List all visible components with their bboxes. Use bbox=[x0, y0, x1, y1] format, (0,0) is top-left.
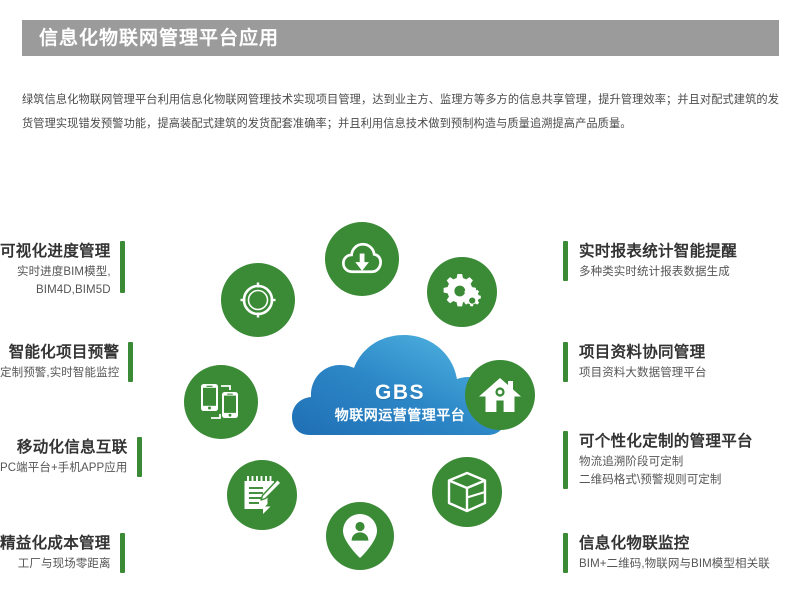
feature-desc-line: 实时进度BIM模型, bbox=[17, 263, 111, 281]
page-title: 信息化物联网管理平台应用 bbox=[22, 29, 279, 48]
feature-desc-line: BIM4D,BIM5D bbox=[36, 281, 111, 299]
feature-label-lean-cost[interactable]: 精益化成本管理 工厂与现场零距离 bbox=[0, 533, 163, 573]
feature-title: 可视化进度管理 bbox=[0, 241, 111, 263]
feature-title: 智能化项目预警 bbox=[9, 342, 120, 364]
compass-icon bbox=[238, 280, 278, 320]
feature-text: 移动化信息互联 PC端平台+手机APP应用 bbox=[0, 437, 137, 477]
feature-title: 可个性化定制的管理平台 bbox=[579, 431, 753, 453]
accent-bar bbox=[563, 342, 568, 382]
accent-bar bbox=[563, 241, 568, 281]
feature-desc-line: PC端平台+手机APP应用 bbox=[0, 459, 128, 477]
feature-desc-line: 多种类实时统计报表数据生成 bbox=[579, 263, 730, 281]
feature-label-project-docs[interactable]: 项目资料协同管理 项目资料大数据管理平台 bbox=[563, 342, 707, 382]
node-compass[interactable] bbox=[221, 263, 295, 337]
feature-text: 精益化成本管理 工厂与现场零距离 bbox=[0, 533, 120, 573]
cloud-download-icon bbox=[342, 241, 382, 277]
mobile-devices-icon bbox=[199, 381, 243, 423]
node-cloud-download[interactable] bbox=[325, 222, 399, 296]
feature-desc-line: 二维码格式\预警规则可定制 bbox=[579, 471, 722, 489]
feature-text: 信息化物联监控 BIM+二维码,物联网与BIM模型相关联 bbox=[579, 533, 770, 573]
feature-title: 移动化信息互联 bbox=[17, 437, 128, 459]
feature-desc-line: BIM+二维码,物联网与BIM模型相关联 bbox=[579, 555, 770, 573]
feature-desc-line: 定制预警,实时智能监控 bbox=[0, 364, 119, 382]
accent-bar bbox=[120, 241, 125, 293]
feature-text: 实时报表统计智能提醒 多种类实时统计报表数据生成 bbox=[579, 241, 737, 281]
accent-bar bbox=[137, 437, 142, 477]
feature-title: 信息化物联监控 bbox=[579, 533, 690, 555]
feature-desc-line: 物流追溯阶段可定制 bbox=[579, 453, 683, 471]
intro-paragraph: 绿筑信息化物联网管理平台利用信息化物联网管理技术实现项目管理，达到业主方、监理方… bbox=[22, 88, 779, 136]
node-map-pin[interactable] bbox=[326, 502, 394, 570]
feature-text: 可视化进度管理 实时进度BIM模型, BIM4D,BIM5D bbox=[0, 241, 120, 299]
feature-label-visual-progress[interactable]: 可视化进度管理 实时进度BIM模型, BIM4D,BIM5D bbox=[0, 241, 163, 299]
feature-label-mobile-interconnect[interactable]: 移动化信息互联 PC端平台+手机APP应用 bbox=[0, 437, 163, 477]
gears-icon bbox=[441, 272, 483, 312]
node-mobile[interactable] bbox=[184, 365, 258, 439]
map-pin-person-icon bbox=[343, 514, 377, 558]
feature-label-customizable-platform[interactable]: 可个性化定制的管理平台 物流追溯阶段可定制 二维码格式\预警规则可定制 bbox=[563, 431, 753, 489]
feature-text: 可个性化定制的管理平台 物流追溯阶段可定制 二维码格式\预警规则可定制 bbox=[579, 431, 753, 489]
node-house[interactable] bbox=[465, 360, 535, 430]
feature-label-realtime-report[interactable]: 实时报表统计智能提醒 多种类实时统计报表数据生成 bbox=[563, 241, 737, 281]
feature-title: 实时报表统计智能提醒 bbox=[579, 241, 737, 263]
node-gears[interactable] bbox=[427, 257, 497, 327]
feature-text: 智能化项目预警 定制预警,实时智能监控 bbox=[0, 342, 128, 382]
accent-bar bbox=[563, 533, 568, 573]
header-bar: 信息化物联网管理平台应用 bbox=[22, 20, 779, 56]
box-3d-icon bbox=[447, 471, 487, 513]
accent-bar bbox=[128, 342, 133, 382]
notepad-pencil-icon bbox=[241, 474, 283, 516]
page-root: 信息化物联网管理平台应用 绿筑信息化物联网管理平台利用信息化物联网管理技术实现项… bbox=[0, 0, 800, 613]
feature-desc-line: 工厂与现场零距离 bbox=[18, 555, 111, 573]
node-box[interactable] bbox=[432, 457, 502, 527]
accent-bar bbox=[120, 533, 125, 573]
node-notepad[interactable] bbox=[227, 460, 297, 530]
feature-text: 项目资料协同管理 项目资料大数据管理平台 bbox=[579, 342, 707, 382]
feature-title: 精益化成本管理 bbox=[0, 533, 111, 555]
feature-label-iot-monitoring[interactable]: 信息化物联监控 BIM+二维码,物联网与BIM模型相关联 bbox=[563, 533, 770, 573]
feature-label-smart-alert[interactable]: 智能化项目预警 定制预警,实时智能监控 bbox=[0, 342, 163, 382]
house-icon bbox=[479, 376, 521, 414]
accent-bar bbox=[563, 431, 568, 489]
feature-title: 项目资料协同管理 bbox=[579, 342, 705, 364]
feature-desc-line: 项目资料大数据管理平台 bbox=[579, 364, 707, 382]
